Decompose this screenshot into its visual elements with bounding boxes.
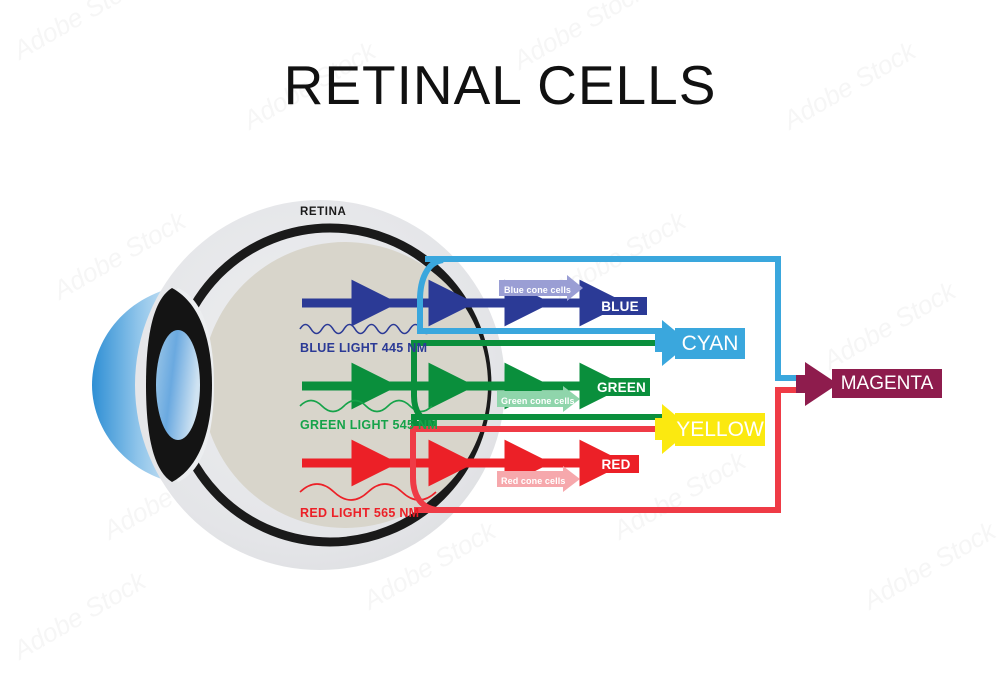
output-chip-green: GREEN [593, 378, 650, 396]
green-light-label: GREEN LIGHT 545 NM [300, 418, 438, 432]
page-title: RETINAL CELLS [0, 58, 1000, 113]
svg-text:Adobe Stock: Adobe Stock [6, 565, 152, 667]
output-chip-cyan: CYAN [675, 328, 745, 359]
green-cone-cells-label: Green cone cells [501, 396, 575, 406]
svg-text:Adobe Stock: Adobe Stock [6, 0, 152, 66]
blue-light-label: BLUE LIGHT 445 NM [300, 341, 427, 355]
svg-text:Adobe Stock: Adobe Stock [816, 275, 962, 377]
blue-cone-cells-label: Blue cone cells [504, 285, 571, 295]
diagram-canvas: Adobe Stock Adobe Stock Adobe Stock Adob… [0, 0, 1000, 680]
retina-label: RETINA [300, 206, 346, 218]
lens [156, 330, 200, 440]
output-chip-blue: BLUE [593, 297, 647, 315]
output-chip-magenta: MAGENTA [832, 369, 942, 398]
red-cone-cells-label: Red cone cells [501, 476, 565, 486]
red-light-label: RED LIGHT 565 NM [300, 506, 419, 520]
svg-text:Adobe Stock: Adobe Stock [856, 515, 1000, 617]
output-chip-yellow: YELLOW [675, 413, 765, 446]
output-chip-red: RED [593, 455, 639, 473]
